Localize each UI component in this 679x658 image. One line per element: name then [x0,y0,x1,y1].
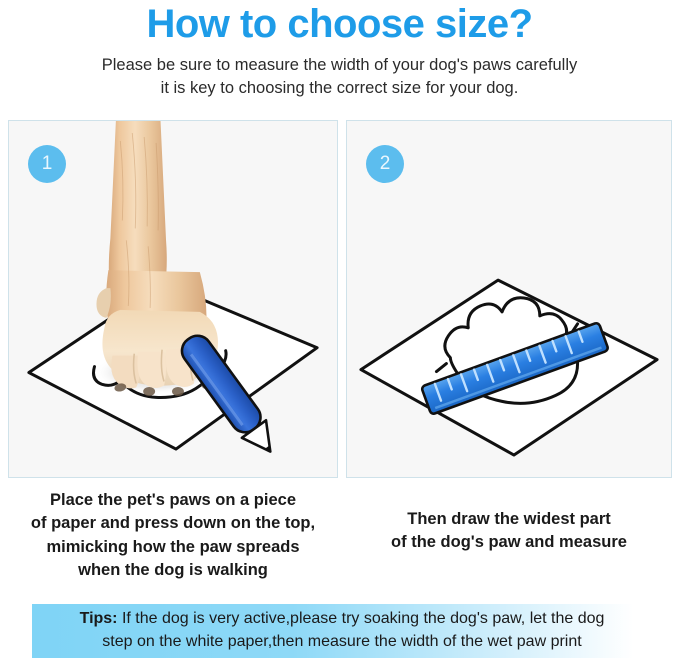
tips-line-1: Tips: If the dog is very active,please t… [32,607,652,630]
step-badge-1: 1 [28,145,66,183]
step-panel-2: 2 [346,120,672,478]
tips-text-1: If the dog is very active,please try soa… [118,610,605,627]
header: How to choose size? Please be sure to me… [0,0,679,101]
step-panel-1: 1 [8,120,338,478]
step-caption-1: Place the pet's paws on a piece of paper… [4,489,342,583]
tips-banner: Tips: If the dog is very active,please t… [32,604,652,658]
page-subtitle: Please be sure to measure the width of y… [0,46,679,101]
step-badge-2: 2 [366,145,404,183]
caption-1-line-2: of paper and press down on the top, [4,512,342,535]
subtitle-line-1: Please be sure to measure the width of y… [0,54,679,77]
caption-1-line-4: when the dog is walking [4,559,342,582]
caption-2-line-2: of the dog's paw and measure [346,531,672,554]
page-title: How to choose size? [0,0,679,46]
caption-2-line-1: Then draw the widest part [346,508,672,531]
tips-line-2: step on the white paper,then measure the… [32,630,652,653]
tips-label: Tips: [80,610,118,627]
caption-1-line-1: Place the pet's paws on a piece [4,489,342,512]
caption-1-line-3: mimicking how the paw spreads [4,536,342,559]
step-caption-2: Then draw the widest part of the dog's p… [346,508,672,555]
subtitle-line-2: it is key to choosing the correct size f… [0,77,679,100]
